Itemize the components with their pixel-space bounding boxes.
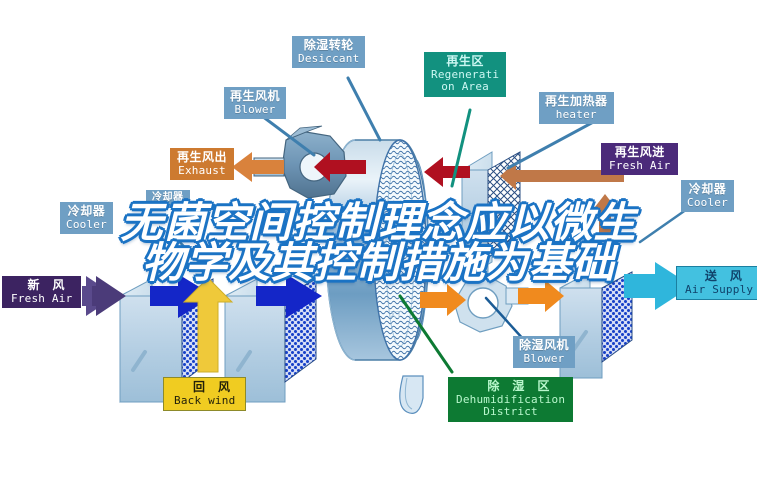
label-cooler-left-outer-cn: 冷却器 (66, 205, 107, 218)
label-dehumidification-blower: 除湿风机 Blower (513, 336, 575, 368)
label-regeneration-area-cn: 再生区 (431, 55, 499, 68)
label-regeneration-area-en-2: on Area (431, 81, 499, 93)
label-air-supply: 送 风 Air Supply (676, 266, 757, 300)
label-back-wind: 回 风 Back wind (163, 377, 246, 411)
drain-pan-graphic (400, 376, 423, 413)
label-dehumidification-district-cn: 除 湿 区 (456, 380, 565, 393)
label-regeneration-exhaust: 再生风出 Exhaust (170, 148, 234, 180)
label-back-wind-cn: 回 风 (174, 381, 235, 394)
label-cooler-left-outer-en: Cooler (66, 219, 107, 231)
label-fresh-air-in: 新 风 Fresh Air (2, 276, 81, 308)
label-regeneration-fresh-air-in: 再生风进 Fresh Air (601, 143, 678, 175)
label-cooler-right-en: Cooler (687, 197, 728, 209)
label-regeneration-blower-en: Blower (230, 104, 280, 116)
label-air-supply-cn: 送 风 (685, 270, 753, 283)
label-desiccant-wheel: 除湿转轮 Desiccant (292, 36, 365, 68)
label-fresh-air-in-en: Fresh Air (11, 293, 72, 305)
label-cooler-right-cn: 冷却器 (687, 183, 728, 196)
label-fresh-air-in-cn: 新 风 (11, 279, 72, 292)
label-regeneration-fresh-air-in-cn: 再生风进 (609, 146, 670, 159)
label-regeneration-blower: 再生风机 Blower (224, 87, 286, 119)
schematic-illustration: XT (0, 0, 757, 488)
label-regeneration-blower-cn: 再生风机 (230, 90, 280, 103)
label-dehumidification-district-en-1: Dehumidification (456, 394, 565, 406)
label-regeneration-heater: 再生加热器 heater (539, 92, 614, 124)
regen-air-up-arrow-graphic (591, 194, 619, 238)
label-cooler-left-inner-cn: 冷却器 (152, 193, 184, 204)
label-regeneration-exhaust-en: Exhaust (177, 165, 227, 177)
label-desiccant-wheel-en: Desiccant (298, 53, 359, 65)
label-cooler-left-inner: 冷却器 (146, 190, 190, 208)
exhaust-arrow-graphic (232, 152, 284, 182)
label-cooler-left-outer: 冷却器 Cooler (60, 202, 113, 234)
dry-air-arrow-2-graphic (518, 280, 564, 312)
label-dehumidification-district: 除 湿 区 Dehumidification District (448, 377, 573, 422)
label-dehumidification-blower-en: Blower (519, 353, 569, 365)
label-desiccant-wheel-cn: 除湿转轮 (298, 39, 359, 52)
label-cooler-right: 冷却器 Cooler (681, 180, 734, 212)
label-dehumidification-district-en-2: District (456, 406, 565, 418)
label-regeneration-heater-en: heater (545, 109, 608, 121)
label-dehumidification-blower-cn: 除湿风机 (519, 339, 569, 352)
label-regeneration-exhaust-cn: 再生风出 (177, 151, 227, 164)
label-air-supply-en: Air Supply (685, 284, 753, 296)
fresh-air-arrow-graphic (82, 276, 126, 316)
label-regeneration-area: 再生区 Regenerati on Area (424, 52, 506, 97)
label-back-wind-en: Back wind (174, 395, 235, 407)
diagram-canvas: XT (0, 0, 757, 488)
label-regeneration-heater-cn: 再生加热器 (545, 95, 608, 108)
svg-text:XT: XT (390, 310, 402, 321)
label-regeneration-area-en-1: Regenerati (431, 69, 499, 81)
label-regeneration-fresh-air-in-en: Fresh Air (609, 160, 670, 172)
